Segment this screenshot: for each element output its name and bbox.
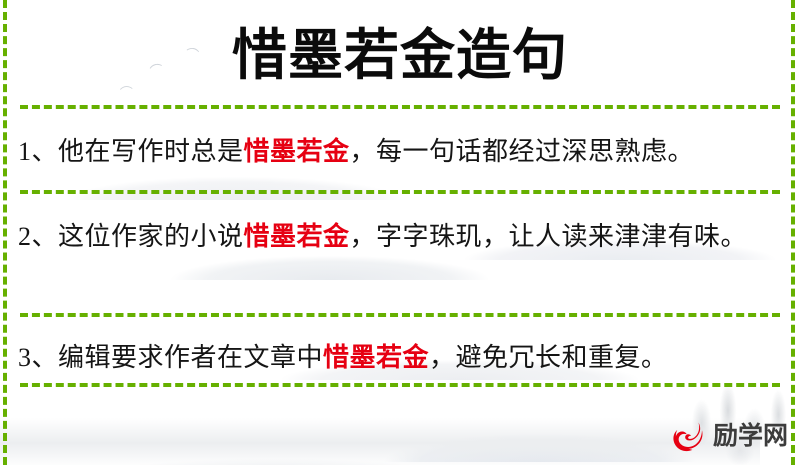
- example-sentence-1: 1、他在写作时总是惜墨若金，每一句话都经过深思熟虑。: [18, 130, 778, 174]
- watermark-mountain: [0, 382, 660, 465]
- page-title: 惜墨若金造句: [0, 24, 800, 86]
- separator-line: [20, 313, 780, 317]
- citation-page: ⌒ ⌒ ⌒ 惜墨若金造句 1、他在写作时总是惜墨若金，每一句话都经过深思熟虑。 …: [0, 0, 800, 465]
- flame-swirl-icon: [668, 416, 708, 456]
- idiom-highlight-3: 惜墨若金: [323, 343, 429, 372]
- sentence-text-after-1: ，每一句话都经过深思熟虑。: [350, 137, 695, 166]
- sentence-text-before-3: 编辑要求作者在文章中: [58, 343, 323, 372]
- sentence-text-before-2: 这位作家的小说: [58, 222, 244, 251]
- sentence-text-after-3: ，避免冗长和重复。: [429, 343, 668, 372]
- sentence-number-2: 2、: [18, 222, 58, 251]
- separator-line: [20, 190, 780, 194]
- separator-line: [20, 105, 780, 109]
- example-sentence-3: 3、编辑要求作者在文章中惜墨若金，避免冗长和重复。: [18, 336, 778, 380]
- idiom-highlight-1: 惜墨若金: [244, 137, 350, 166]
- sentence-text-before-1: 他在写作时总是: [58, 137, 244, 166]
- separator-line: [20, 383, 780, 387]
- site-logo[interactable]: 励学网: [668, 412, 792, 460]
- watermark-mist: [0, 418, 760, 465]
- sentence-number-3: 3、: [18, 343, 58, 372]
- sentence-text-after-2: ，字字珠玑，让人读来津津有味。: [350, 222, 748, 251]
- logo-text: 励学网: [713, 422, 788, 450]
- example-sentence-2: 2、这位作家的小说惜墨若金，字字珠玑，让人读来津津有味。: [18, 215, 778, 259]
- sentence-number-1: 1、: [18, 137, 58, 166]
- idiom-highlight-2: 惜墨若金: [244, 222, 350, 251]
